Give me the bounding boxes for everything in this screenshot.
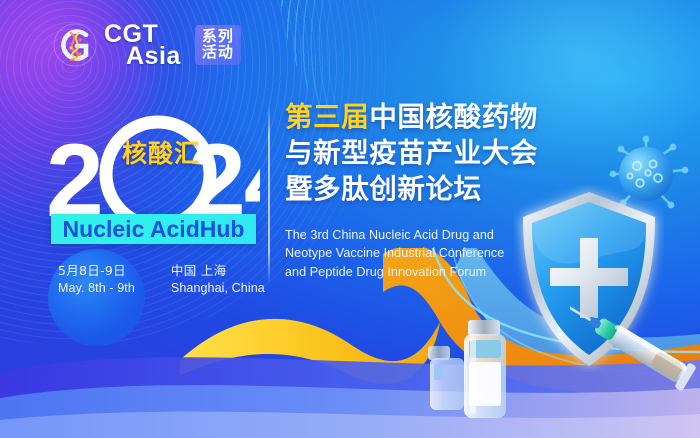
title-line-1: 第三届中国核酸药物	[285, 100, 553, 136]
event-location-en: Shanghai, China	[171, 280, 265, 298]
badge-line-2: 活动	[202, 45, 234, 60]
event-date: 5月8日-9日 May. 8th - 9th	[58, 262, 135, 298]
logo-line-asia: Asia	[126, 45, 181, 67]
logo-wordmark: CGT Asia	[104, 23, 181, 67]
subtitle-line-3: and Peptide Drug Innovation Forum	[285, 263, 547, 281]
vertical-divider	[268, 104, 270, 284]
year-block: 2 24 核酸汇 Nucleic AcidHub	[46, 112, 260, 252]
event-date-cn: 5月8日-9日	[58, 262, 135, 280]
title-line-3: 暨多肽创新论坛	[285, 172, 553, 208]
title-line-1-rest: 中国核酸药物	[369, 101, 538, 133]
event-location-cn: 中国 上海	[171, 262, 265, 280]
nucleic-acid-hub-banner: Nucleic AcidHub	[51, 214, 256, 244]
hub-label: Nucleic AcidHub	[63, 216, 245, 243]
series-activity-badge: 系列 活动	[195, 25, 241, 65]
event-meta: 5月8日-9日 May. 8th - 9th 中国 上海 Shanghai, C…	[58, 262, 265, 298]
title-highlight: 第三届	[285, 101, 369, 133]
event-title: 第三届中国核酸药物 与新型疫苗产业大会 暨多肽创新论坛	[285, 100, 553, 207]
dna-helix-g-logo-icon	[52, 22, 98, 68]
event-subtitle: The 3rd China Nucleic Acid Drug and Neot…	[285, 226, 547, 281]
subtitle-line-2: Neotype Vaccine Industrial Conference	[285, 244, 547, 262]
year-overlay-chinese: 核酸汇	[122, 134, 200, 170]
vaccine-vial-icon	[420, 320, 540, 436]
title-line-2: 与新型疫苗产业大会	[285, 136, 553, 172]
cgt-asia-logo[interactable]: CGT Asia 系列 活动	[52, 22, 241, 68]
syringe-icon	[570, 290, 700, 410]
conference-banner: CGT Asia 系列 活动 2 24 核酸汇 Nucleic AcidHub …	[0, 0, 700, 438]
event-location: 中国 上海 Shanghai, China	[171, 262, 265, 298]
subtitle-line-1: The 3rd China Nucleic Acid Drug and	[285, 226, 547, 244]
event-date-en: May. 8th - 9th	[58, 280, 135, 298]
